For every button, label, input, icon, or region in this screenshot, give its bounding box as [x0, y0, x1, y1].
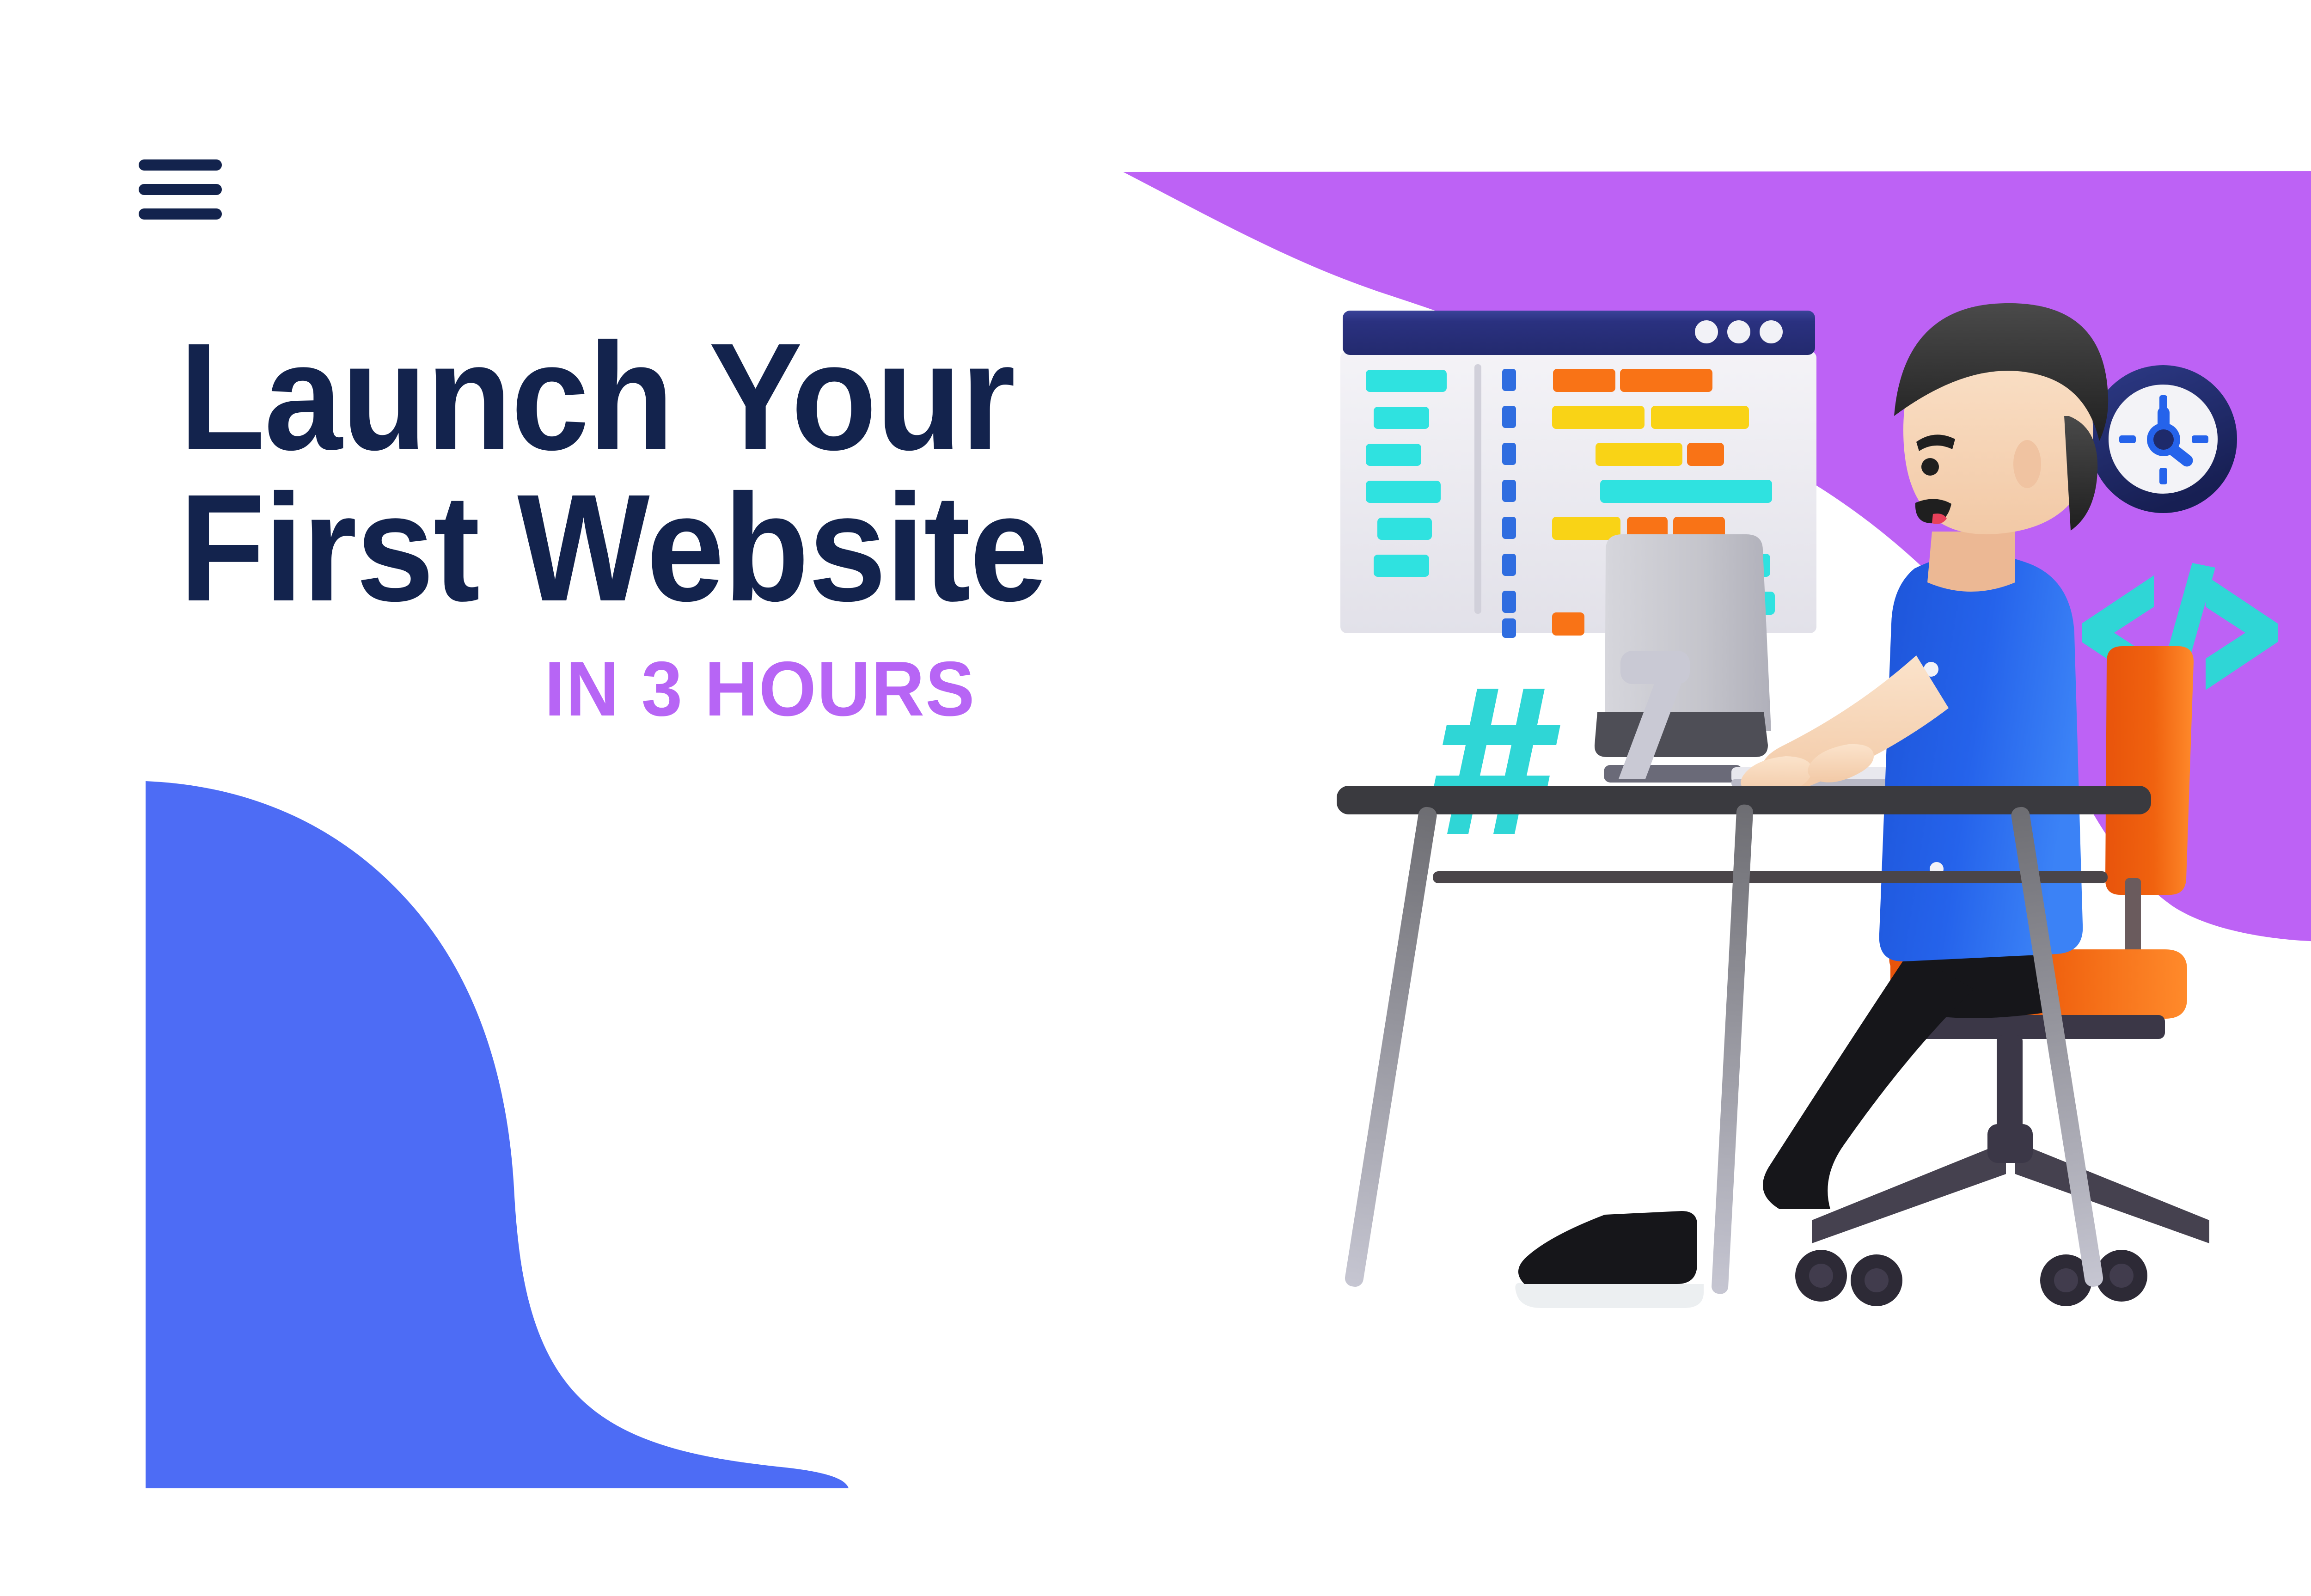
hamburger-bar-3 [139, 208, 222, 220]
subheadline: IN 3 HOURS [544, 650, 1094, 728]
headline-line-1: Launch Your [179, 324, 1047, 470]
hero-banner: Menu Launch Your First Website IN 3 HOUR… [0, 0, 2311, 1596]
blue-blob [146, 781, 849, 1488]
purple-blob [1123, 171, 2311, 942]
hamburger-menu-label: Menu [139, 159, 139, 160]
hamburger-bar-1 [139, 159, 222, 171]
background-shapes [0, 0, 2311, 1596]
headline-line-2: First Website [179, 475, 1047, 621]
hero-text-block: Launch Your First Website IN 3 HOURS [179, 324, 1122, 728]
hamburger-menu-button[interactable]: Menu [139, 159, 222, 220]
hamburger-bar-2 [139, 184, 222, 195]
